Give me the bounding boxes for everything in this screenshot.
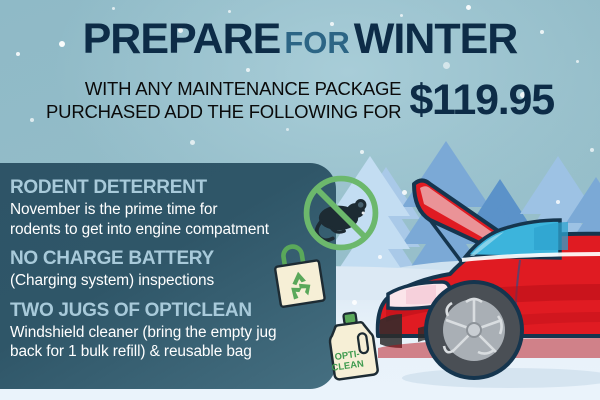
feature-body: Windshield cleaner (bring the empty jug … xyxy=(10,323,336,362)
winter-promo-poster: PREPAREFORWINTER WITH ANY MAINTENANCE PA… xyxy=(0,0,600,400)
headline-word-prepare: PREPARE xyxy=(83,15,281,63)
offer-description: WITH ANY MAINTENANCE PACKAGE PURCHASED A… xyxy=(46,78,401,123)
front-wheel xyxy=(424,280,524,380)
red-car-open-hood xyxy=(370,160,600,392)
offer-line-2: PURCHASED ADD THE FOLLOWING FOR xyxy=(46,101,401,124)
feature-item: RODENT DETERRENT November is the prime t… xyxy=(10,177,336,239)
headline-word-winter: WINTER xyxy=(354,15,518,63)
feature-body: November is the prime time for rodents t… xyxy=(10,200,336,239)
price-amount: $119.95 xyxy=(409,79,554,122)
bag-body xyxy=(275,260,325,307)
recycle-tote-bag-icon xyxy=(268,240,334,312)
feature-title: RODENT DETERRENT xyxy=(10,177,336,198)
offer-line-1: WITH ANY MAINTENANCE PACKAGE xyxy=(46,78,401,101)
offer-row: WITH ANY MAINTENANCE PACKAGE PURCHASED A… xyxy=(0,78,600,123)
headline: PREPAREFORWINTER xyxy=(0,18,600,61)
headline-word-for: FOR xyxy=(284,25,349,60)
bumper-vent xyxy=(380,314,402,348)
wheel-hub xyxy=(467,323,481,337)
